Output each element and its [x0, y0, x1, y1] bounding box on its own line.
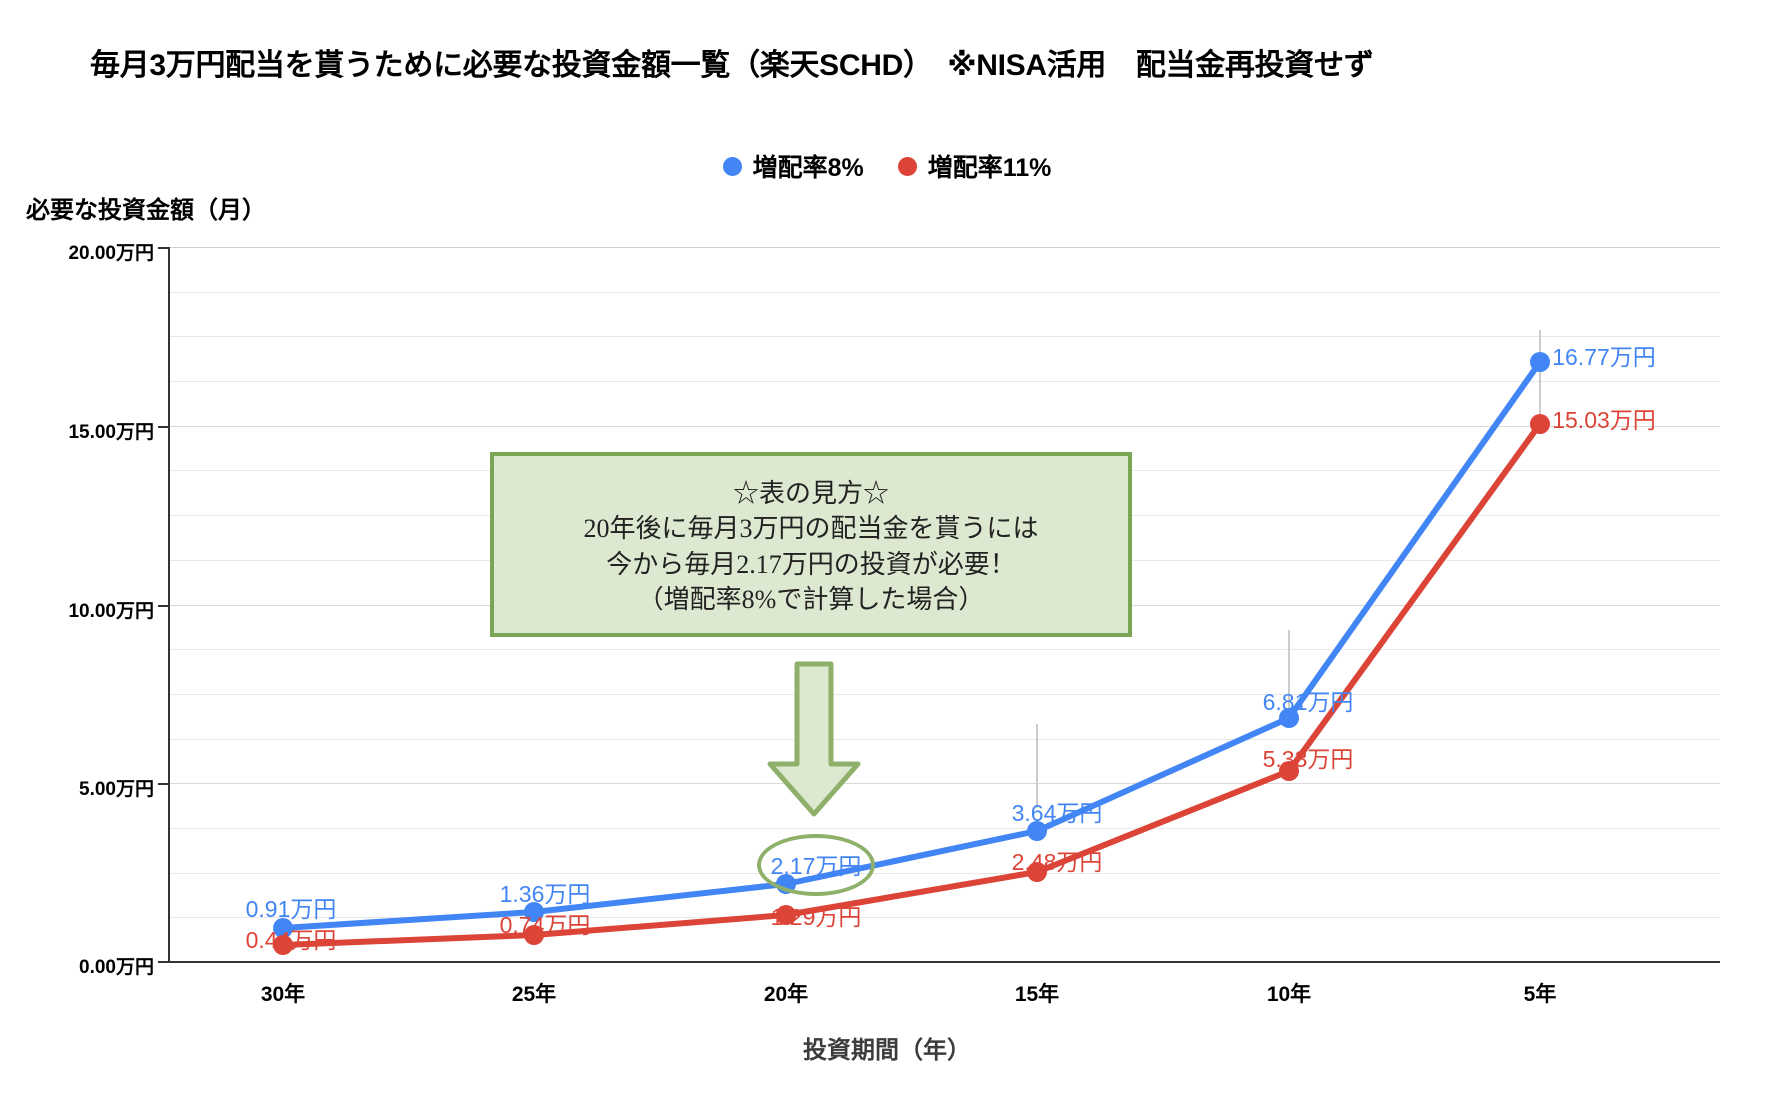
y-tick-mark-10 — [158, 605, 170, 607]
y-tick-mark-5 — [158, 783, 170, 785]
legend-item-series-2[interactable]: 増配率11% — [898, 148, 1052, 184]
y-tick-mark-0 — [158, 961, 170, 963]
x-tick-label-25: 25年 — [454, 978, 614, 1008]
x-tick-label-15: 15年 — [957, 978, 1117, 1008]
legend-dot-icon — [723, 157, 742, 176]
data-label-red-20y: 1.29万円 — [771, 898, 862, 932]
data-label-blue-25y: 1.36万円 — [500, 875, 591, 909]
gridline-minor-3_75 — [168, 828, 1720, 829]
gridline-minor-17_50 — [168, 336, 1720, 337]
callout-line-3: 今から毎月2.17万円の投資が必要！ — [606, 548, 1016, 581]
y-axis-title: 必要な投資金額（月） — [26, 190, 266, 225]
y-tick-mark-15 — [158, 426, 170, 428]
gridline-major-20 — [168, 247, 1720, 248]
gridline-minor-6_25 — [168, 739, 1720, 740]
x-tick-label-10: 10年 — [1209, 978, 1369, 1008]
callout-line-1: ☆表の見方☆ — [733, 477, 889, 510]
y-tick-mark-20 — [158, 247, 170, 249]
y-tick-label-10: 10.00万円 — [14, 596, 154, 623]
callout-line-2: 20年後に毎月3万円の配当金を貰うには — [583, 512, 1038, 545]
highlight-ellipse — [757, 834, 875, 896]
legend-item-series-1[interactable]: 増配率8% — [723, 148, 864, 184]
data-label-blue-30y: 0.91万円 — [246, 890, 337, 924]
data-label-blue-5y: 16.77万円 — [1552, 338, 1656, 372]
callout-box: ☆表の見方☆ 20年後に毎月3万円の配当金を貰うには 今から毎月2.17万円の投… — [490, 452, 1132, 637]
gridline-minor-16_25 — [168, 381, 1720, 382]
data-label-red-15y: 2.48万円 — [1012, 843, 1103, 877]
gridline-minor-18_75 — [168, 292, 1720, 293]
x-axis-line — [168, 961, 1720, 963]
x-tick-label-30: 30年 — [203, 978, 363, 1008]
data-label-red-10y: 5.33万円 — [1263, 740, 1354, 774]
y-tick-label-5: 5.00万円 — [14, 774, 154, 801]
data-label-blue-15y: 3.64万円 — [1012, 794, 1103, 828]
callout-line-4: （増配率8%で計算した場合） — [638, 583, 985, 616]
gridline-minor-1_25 — [168, 917, 1720, 918]
callout-arrow-icon — [764, 660, 864, 820]
data-label-red-25y: 0.74万円 — [500, 906, 591, 940]
legend-label: 増配率11% — [928, 148, 1052, 184]
gridline-major-5 — [168, 783, 1720, 784]
y-tick-label-15: 15.00万円 — [14, 417, 154, 444]
data-label-red-5y: 15.03万円 — [1552, 401, 1656, 435]
x-tick-label-5: 5年 — [1460, 978, 1620, 1008]
legend-dot-icon — [898, 157, 917, 176]
gridline-minor-7_50 — [168, 694, 1720, 695]
x-axis-title: 投資期間（年） — [0, 1030, 1774, 1065]
gridline-minor-8_75 — [168, 649, 1720, 650]
data-label-red-30y: 0.44万円 — [246, 921, 337, 955]
legend-label: 増配率8% — [753, 148, 864, 184]
chart-root: 毎月3万円配当を貰うために必要な投資金額一覧（楽天SCHD） ※NISA活用 配… — [0, 0, 1774, 1096]
x-tick-label-20: 20年 — [706, 978, 866, 1008]
y-tick-label-20: 20.00万円 — [14, 238, 154, 265]
chart-legend: 増配率8% 増配率11% — [0, 148, 1774, 184]
page-title: 毎月3万円配当を貰うために必要な投資金額一覧（楽天SCHD） ※NISA活用 配… — [90, 40, 1690, 84]
y-tick-label-0: 0.00万円 — [14, 952, 154, 979]
gridline-major-15 — [168, 426, 1720, 427]
gridline-minor-2_50 — [168, 873, 1720, 874]
data-label-blue-10y: 6.81万円 — [1263, 683, 1354, 717]
